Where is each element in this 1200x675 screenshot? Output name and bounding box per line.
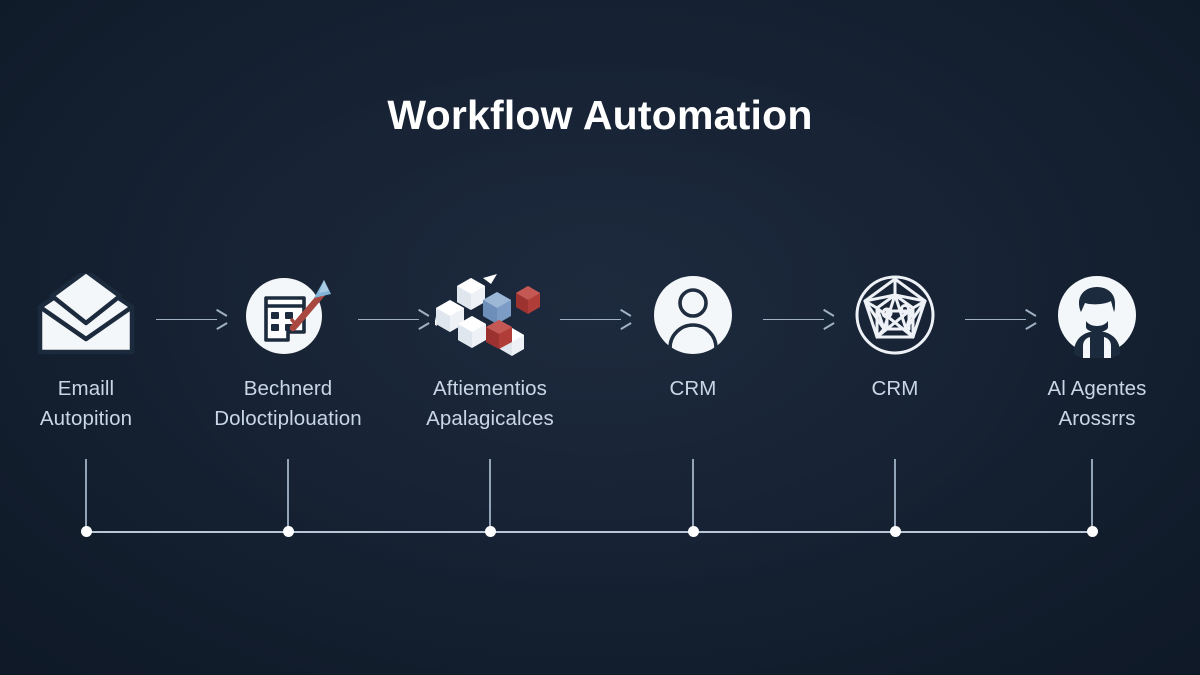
page-title: Workflow Automation [0,92,1200,139]
flow-arrow-1 [156,312,226,326]
arrow-shaft [965,319,1026,321]
flow-arrow-2 [358,312,428,326]
flow-node-label-line1: Emaill [58,377,114,400]
flow-node-email[interactable]: Emaill Autopition [0,272,172,434]
flow-node-integrations[interactable]: Aftiementios Apalagicalces [404,272,576,434]
flow-node-label-line1: Al Agentes [1047,377,1146,400]
arrow-shaft [156,319,217,321]
workflow-automation-diagram: Workflow Automation Emaill Autopition [0,0,1200,675]
timeline-stem [287,459,289,531]
arrow-shaft [358,319,419,321]
flow-node-label: Al Agentes Arossrrs [1011,374,1183,434]
timeline-stem [894,459,896,531]
node-icon-wrapper [404,272,576,358]
timeline-stem [489,459,491,531]
flow-node-scheduling[interactable]: Bechnerd Doloctiplouation [202,272,374,434]
flow-node-label-line2: Apalagicalces [404,404,576,434]
workflow-flow-row: Emaill Autopition [0,272,1200,442]
timeline-stem [1091,459,1093,531]
node-icon-wrapper [809,272,981,358]
timeline-stem [692,459,694,531]
timeline-marker-dot[interactable] [890,526,901,537]
flow-node-label-line1: Aftiementios [433,377,547,400]
flow-node-label-line2: Autopition [0,404,172,434]
open-envelope-icon [32,273,140,357]
network-globe-icon [851,271,939,359]
flow-node-label-line2: Arossrrs [1011,404,1183,434]
arrow-head-icon [619,313,630,326]
flow-node-label-line1: CRM [872,377,919,400]
arrow-shaft [560,319,621,321]
flow-node-label-line2: Doloctiplouation [202,404,374,434]
node-icon-wrapper [0,272,172,358]
timeline-marker-dot[interactable] [81,526,92,537]
flow-node-ai-agents[interactable]: Al Agentes Arossrrs [1011,272,1183,434]
flow-node-label: CRM [607,374,779,404]
flow-arrow-4 [763,312,833,326]
timeline-marker-dot[interactable] [485,526,496,537]
flow-node-label-line1: Bechnerd [244,377,333,400]
node-icon-wrapper [1011,272,1183,358]
timeline-axis [82,531,1096,533]
node-icon-wrapper [202,272,374,358]
timeline-marker-dot[interactable] [1087,526,1098,537]
flow-node-network[interactable]: CRM [809,272,981,404]
flow-node-label: Bechnerd Doloctiplouation [202,374,374,434]
flow-arrow-3 [560,312,630,326]
flow-node-crm-user[interactable]: CRM [607,272,779,404]
flow-node-label: Emaill Autopition [0,374,172,434]
flow-node-label-line1: CRM [670,377,717,400]
arrow-head-icon [417,313,428,326]
flow-arrow-5 [965,312,1035,326]
node-icon-wrapper [607,272,779,358]
user-circle-icon [650,272,736,358]
timeline-marker-dot[interactable] [283,526,294,537]
checklist-rocket-icon [236,272,340,358]
flow-node-label: Aftiementios Apalagicalces [404,374,576,434]
ai-agent-avatar-icon [1054,272,1140,358]
arrow-head-icon [1024,313,1035,326]
arrow-head-icon [215,313,226,326]
flow-node-label: CRM [809,374,981,404]
arrow-shaft [763,319,824,321]
arrow-head-icon [822,313,833,326]
timeline-stem [85,459,87,531]
hexagon-cluster-icon [435,272,545,358]
timeline-marker-dot[interactable] [688,526,699,537]
